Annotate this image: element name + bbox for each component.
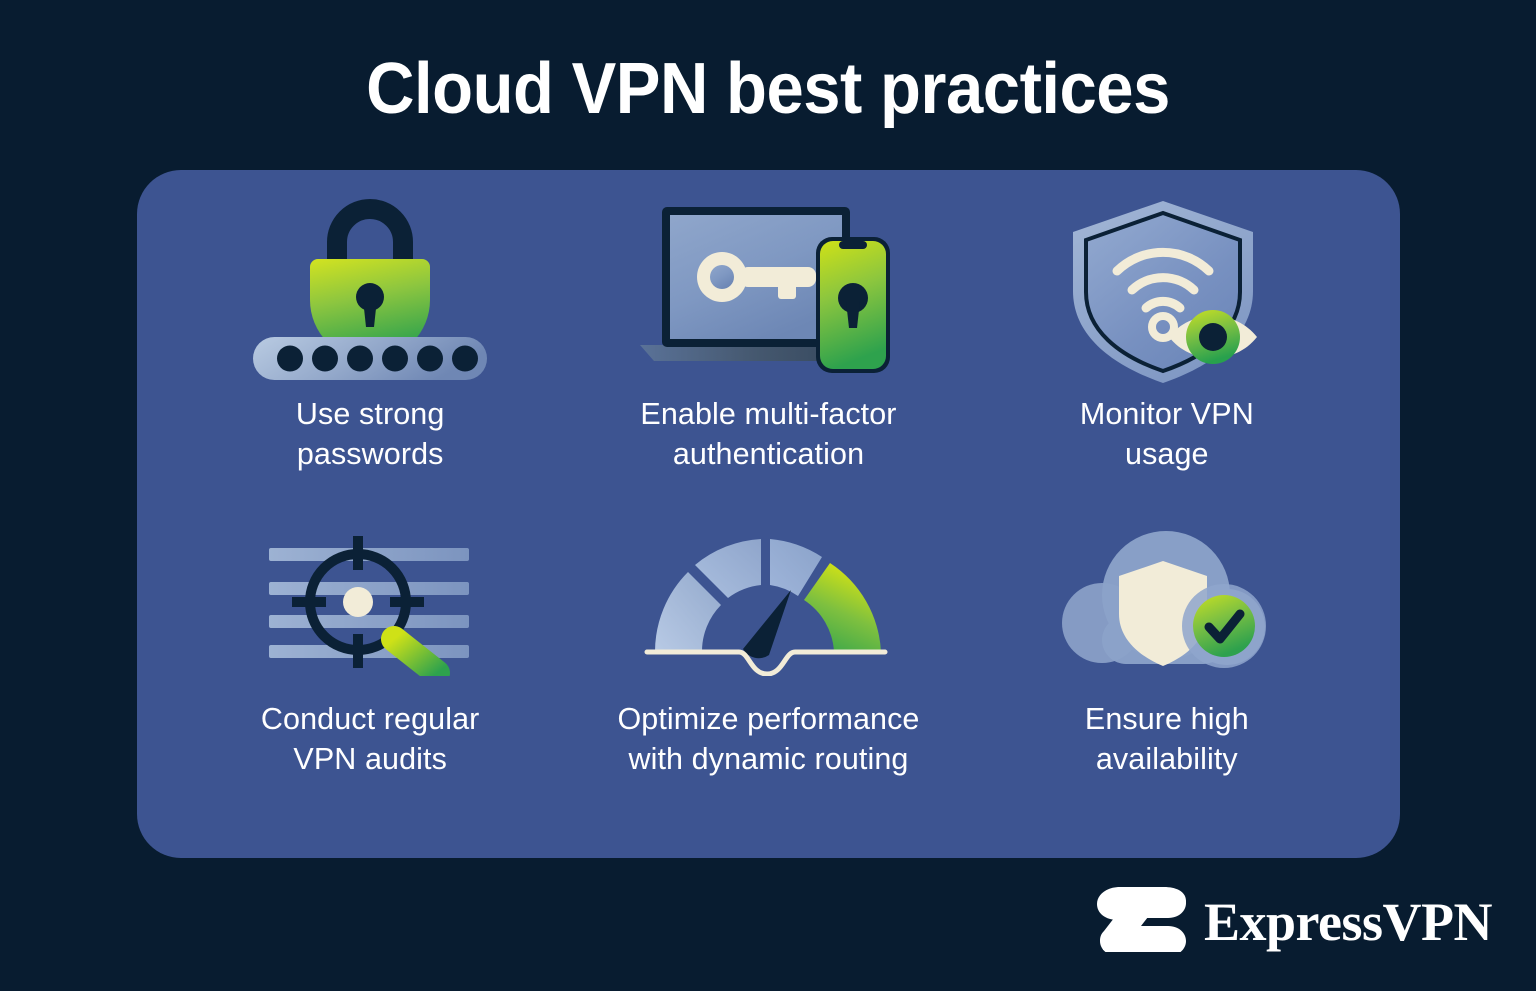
tip-optimize-performance-with-dynamic-routing: Optimize performance with dynamic routin…	[569, 512, 967, 832]
tip-label: Conduct regular VPN audits	[261, 700, 480, 780]
tip-enable-multi-factor-authentication: Enable multi-factor authentication	[569, 192, 967, 512]
expressvpn-logo: ExpressVPN	[1096, 886, 1492, 957]
speedometer-gauge-icon	[569, 512, 967, 690]
tips-grid: Use strong passwords	[171, 192, 1366, 832]
infographic-poster: Cloud VPN best practices	[0, 0, 1536, 991]
tip-conduct-regular-vpn-audits: Conduct regular VPN audits	[171, 512, 569, 832]
tip-label: Monitor VPN usage	[1080, 395, 1254, 475]
tip-use-strong-passwords: Use strong passwords	[171, 192, 569, 512]
tip-monitor-vpn-usage: Monitor VPN usage	[968, 192, 1366, 512]
tip-ensure-high-availability: Ensure high availability	[968, 512, 1366, 832]
tip-label: Use strong passwords	[296, 395, 444, 475]
crosshair-magnifier-icon	[171, 512, 569, 690]
cloud-shield-check-icon	[968, 512, 1366, 690]
padlock-password-field-icon	[171, 192, 569, 387]
expressvpn-e-logomark	[1096, 886, 1188, 957]
page-title: Cloud VPN best practices	[54, 52, 1482, 128]
brand-wordmark: ExpressVPN	[1204, 895, 1492, 949]
laptop-key-phone-lock-icon	[569, 192, 967, 387]
tips-card: Use strong passwords	[137, 170, 1400, 858]
tip-label: Ensure high availability	[1085, 700, 1249, 780]
tip-label: Optimize performance with dynamic routin…	[617, 700, 919, 780]
shield-wifi-eye-icon	[968, 192, 1366, 387]
tip-label: Enable multi-factor authentication	[640, 395, 896, 475]
